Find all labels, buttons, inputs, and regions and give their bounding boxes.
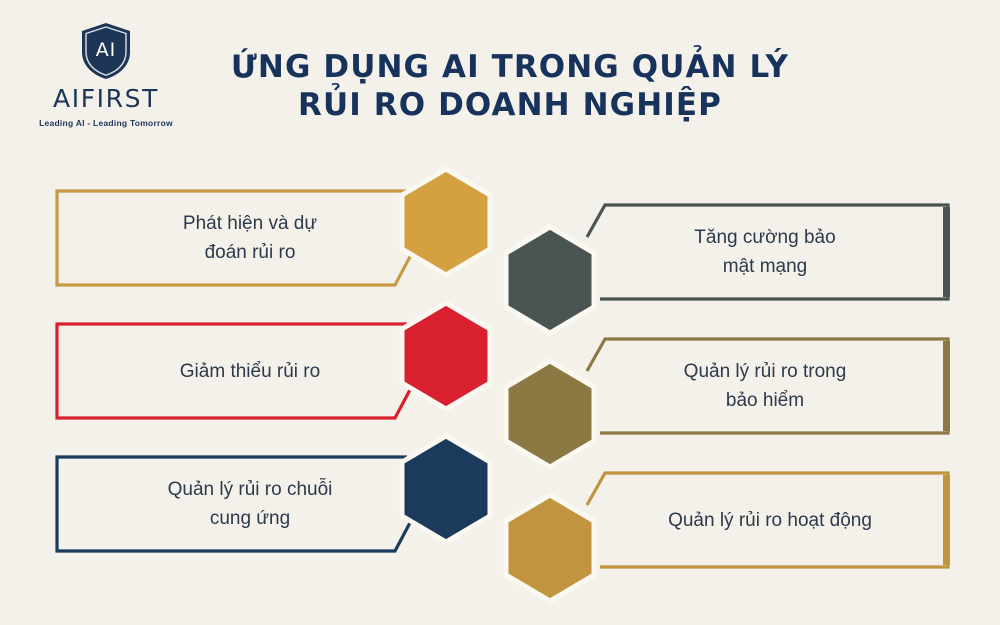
node-label: Tăng cường bảo mật mạng	[600, 203, 930, 301]
node-label: Quản lý rủi ro hoạt động	[600, 471, 940, 569]
hexagon-quan-ly-rui-ro-hoat-dong[interactable]	[502, 492, 598, 604]
node-quan-ly-rui-ro-hoat-dong[interactable]: Quản lý rủi ro hoạt động	[545, 471, 950, 569]
node-label: Phát hiện và dự đoán rủi ro	[85, 189, 415, 287]
hexagon-phat-hien-du-doan-rui-ro[interactable]	[398, 166, 494, 278]
hexagon-quan-ly-rui-ro-trong-bao-hiem[interactable]	[502, 358, 598, 470]
hexagon-quan-ly-rui-ro-chuoi-cung-ung[interactable]	[398, 433, 494, 545]
node-label: Quản lý rủi ro trong bảo hiểm	[600, 337, 930, 435]
node-quan-ly-rui-ro-trong-bao-hiem[interactable]: Quản lý rủi ro trong bảo hiểm	[545, 337, 950, 435]
node-label: Quản lý rủi ro chuỗi cung ứng	[85, 455, 415, 553]
hexagon-tang-cuong-bao-mat-mang[interactable]	[502, 224, 598, 336]
node-label: Giảm thiểu rủi ro	[85, 322, 415, 420]
infographic-stage: Phát hiện và dự đoán rủi ro Giảm thiểu r…	[0, 0, 1000, 625]
hexagon-giam-thieu-rui-ro[interactable]	[398, 300, 494, 412]
node-tang-cuong-bao-mat-mang[interactable]: Tăng cường bảo mật mạng	[545, 203, 950, 301]
node-phat-hien-du-doan-rui-ro[interactable]: Phát hiện và dự đoán rủi ro	[55, 189, 450, 287]
node-giam-thieu-rui-ro[interactable]: Giảm thiểu rủi ro	[55, 322, 450, 420]
node-quan-ly-rui-ro-chuoi-cung-ung[interactable]: Quản lý rủi ro chuỗi cung ứng	[55, 455, 450, 553]
